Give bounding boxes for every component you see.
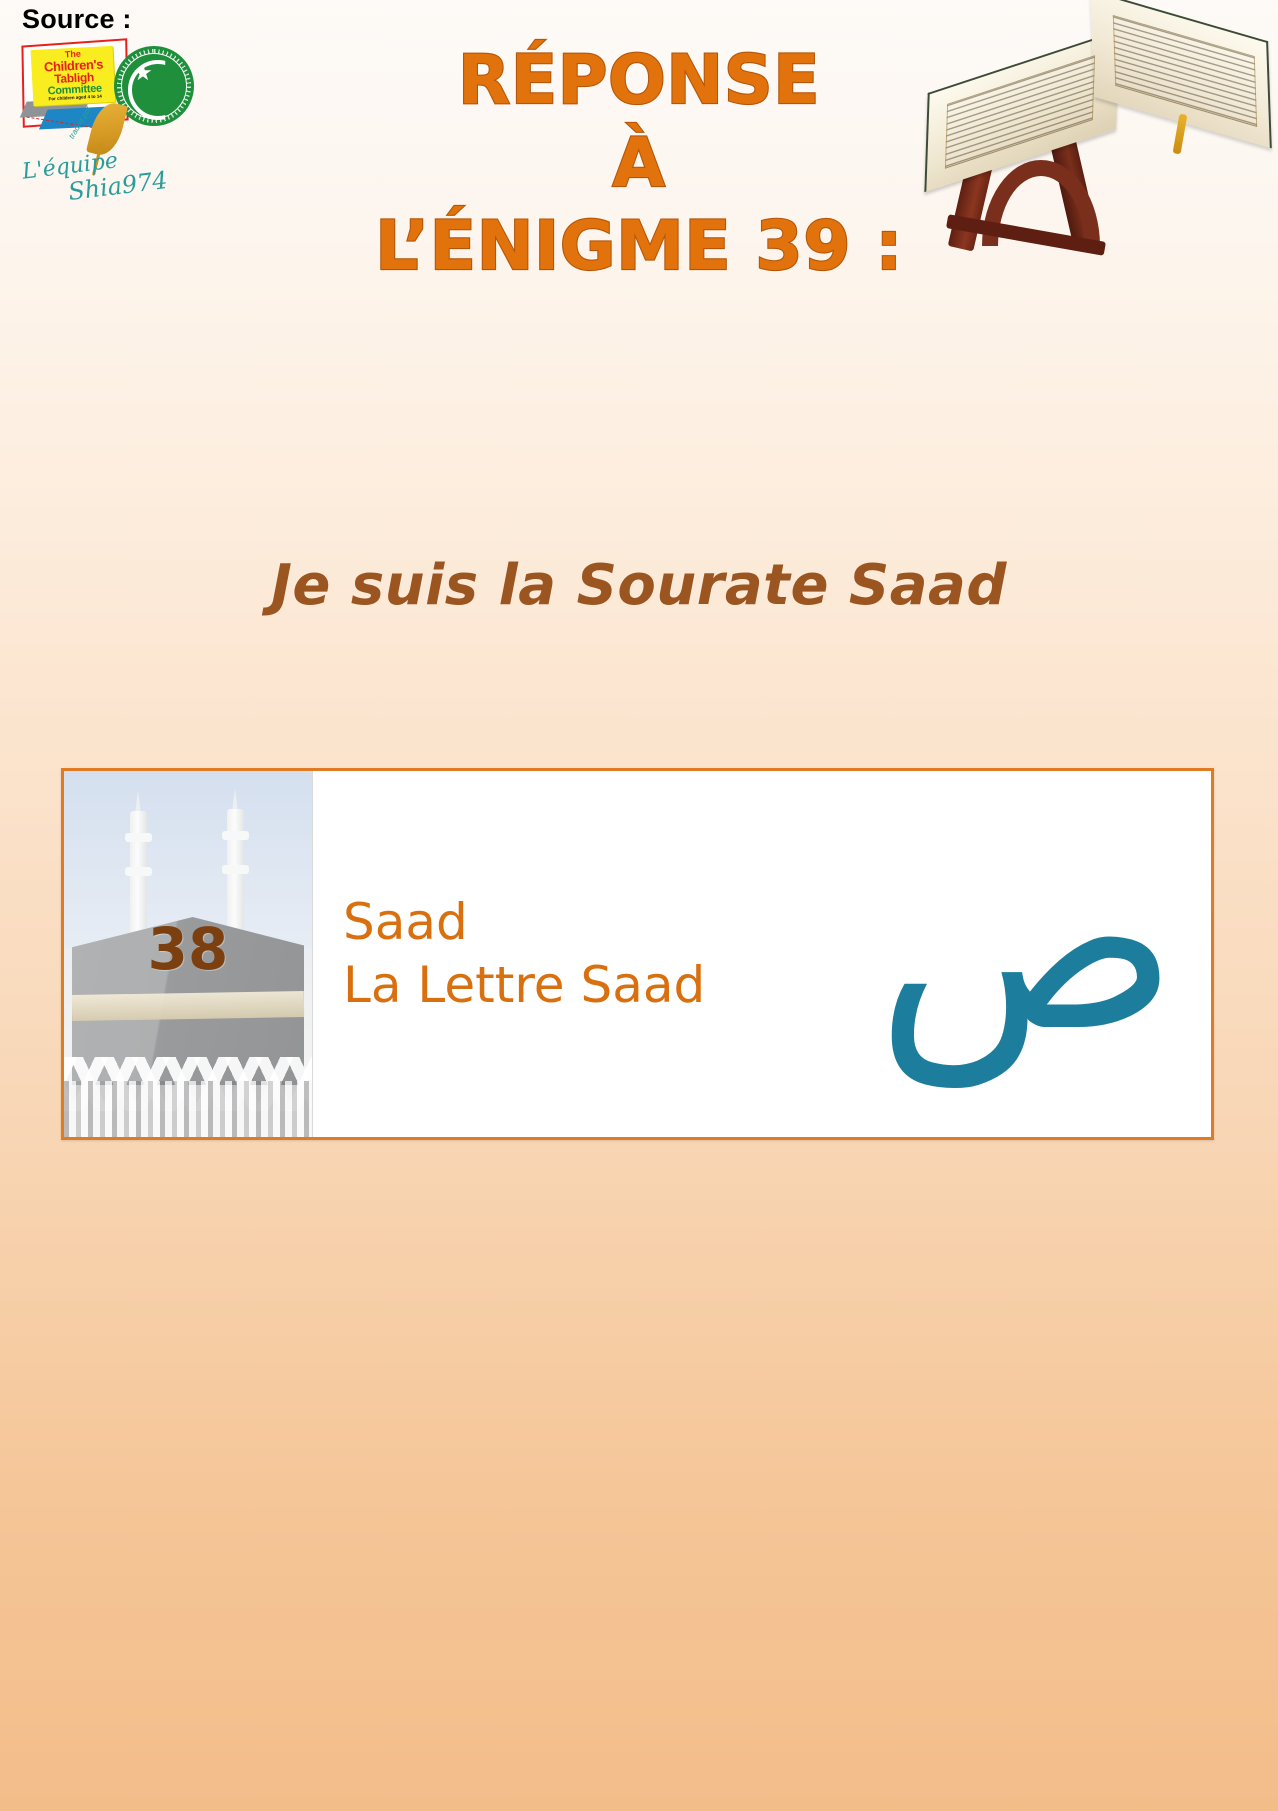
surah-name-transliteration: Saad [343,893,867,952]
surah-name-french: La Lettre Saad [343,956,867,1015]
team-signature: L'équipe Shia974 [22,154,162,210]
source-block: Source : The Children's Tabligh Committe… [14,6,244,216]
answer-text: Je suis la Sourate Saad [0,553,1278,618]
surah-number: 38 [64,771,312,983]
logo-text-stack: The Children's Tabligh Committee For chi… [33,48,116,103]
surah-card: 38 Saad La Lettre Saad ص [61,768,1214,1140]
kaaba-thumbnail: 38 [64,771,313,1137]
source-label: Source : [22,6,244,33]
open-quran-on-rehal-image [924,10,1264,260]
arabic-letter-panel: ص [867,771,1211,1137]
arabic-letter-saad: ص [876,835,1178,1048]
surah-names: Saad La Lettre Saad [313,771,867,1137]
